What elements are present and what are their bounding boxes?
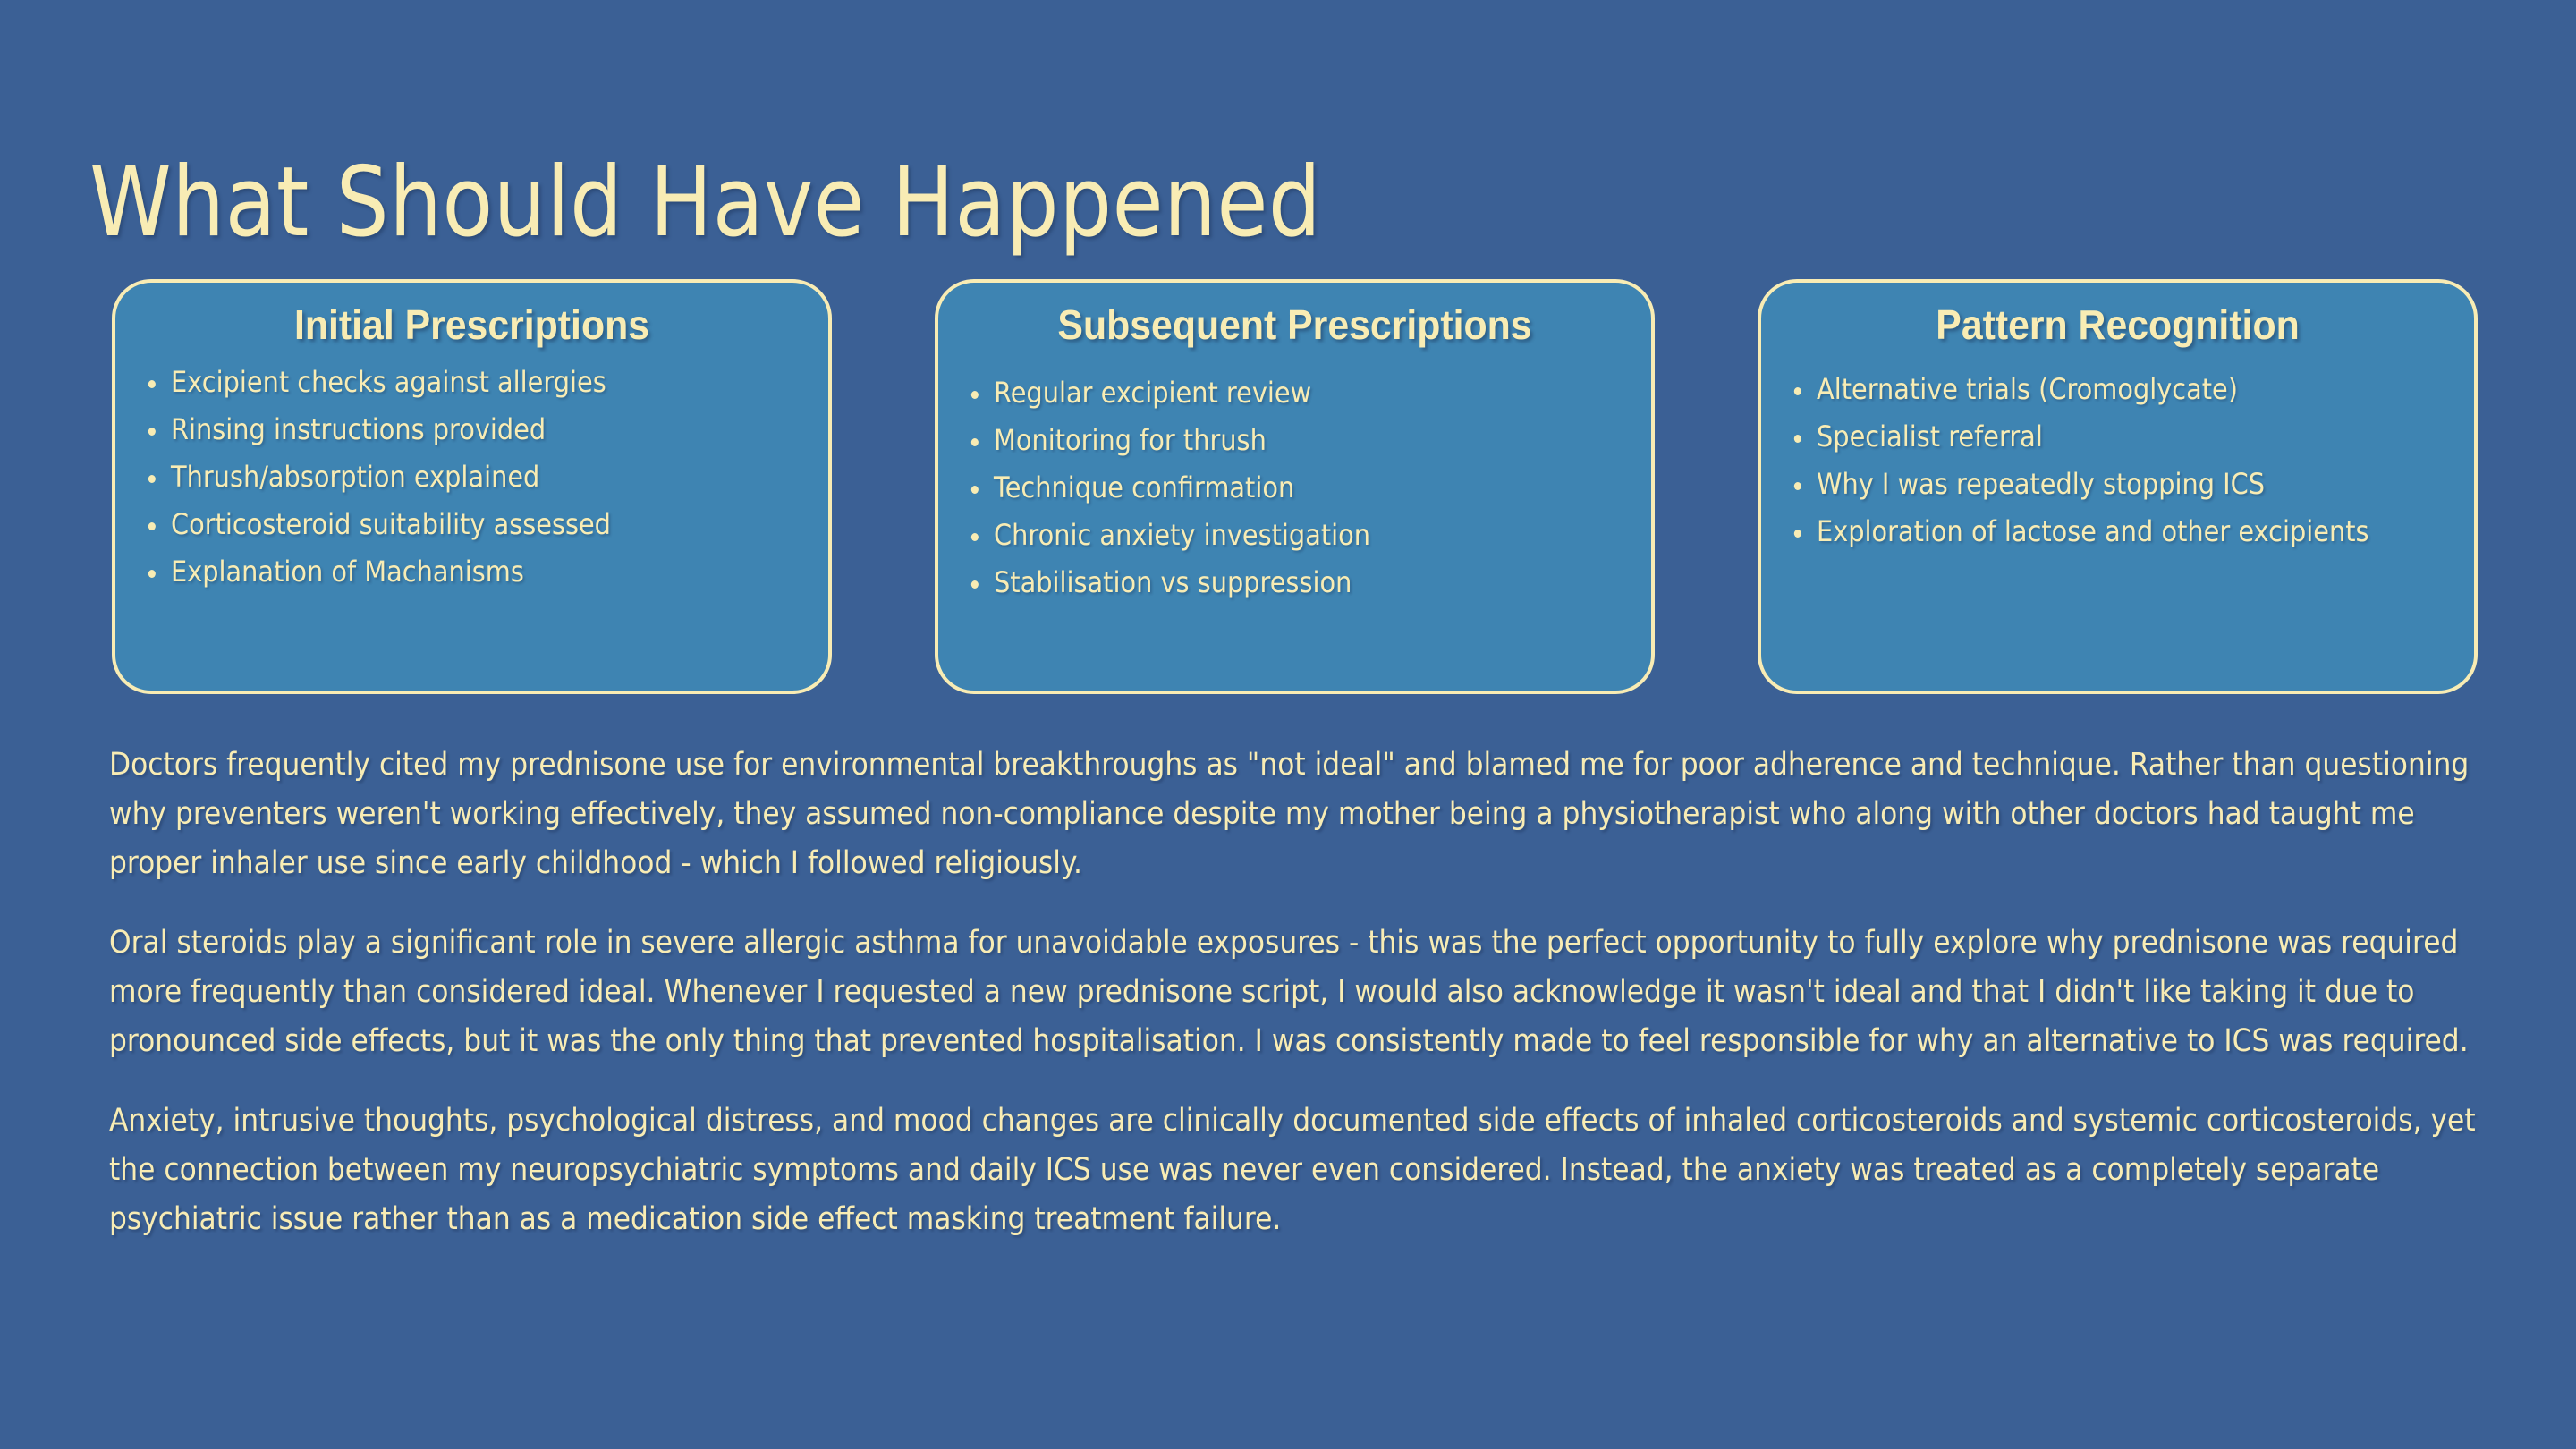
list-item: Specialist referral (1784, 419, 2385, 454)
paragraph: Anxiety, intrusive thoughts, psychologic… (109, 1097, 2487, 1244)
card-bullet-list: Alternative trials (Cromoglycate) Specia… (1784, 372, 2451, 549)
slide-root: What Should Have Happened Initial Prescr… (0, 0, 2576, 1449)
body-copy: Doctors frequently cited my prednisone u… (109, 741, 2488, 1244)
list-item-label: Why I was repeatedly stopping ICS (1817, 467, 2265, 501)
list-item: Corticosteroid suitability assessed (139, 507, 739, 542)
list-item-label: Chronic anxiety investigation (994, 518, 1370, 552)
list-item: Explanation of Machanisms (139, 555, 739, 589)
list-item-label: Rinsing instructions provided (171, 412, 546, 446)
bullet-point-icon (971, 580, 979, 589)
list-item: Excipient checks against allergies (139, 365, 739, 400)
card-pattern-recognition: Pattern Recognition Alternative trials (… (1758, 279, 2478, 694)
page-title: What Should Have Happened (89, 152, 1321, 253)
bullet-point-icon (1794, 482, 1801, 490)
paragraph: Oral steroids play a significant role in… (109, 919, 2487, 1066)
list-item: Monitoring for thrush (962, 423, 1562, 458)
list-item-label: Monitoring for thrush (994, 423, 1267, 457)
list-item: Why I was repeatedly stopping ICS (1784, 467, 2385, 502)
list-item: Chronic anxiety investigation (962, 518, 1562, 553)
card-title: Initial Prescriptions (162, 302, 782, 349)
list-item-label: Corticosteroid suitability assessed (171, 507, 611, 541)
card-bullet-list: Excipient checks against allergies Rinsi… (139, 365, 805, 589)
bullet-point-icon (1794, 435, 1801, 443)
list-item: Regular excipient review (962, 376, 1562, 411)
bullet-point-icon (148, 380, 156, 388)
list-item: Technique confirmation (962, 470, 1562, 505)
list-item-label: Technique confirmation (994, 470, 1294, 504)
bullet-point-icon (148, 475, 156, 483)
list-item: Exploration of lactose and other excipie… (1784, 514, 2385, 549)
bullet-point-icon (148, 570, 156, 578)
card-subsequent-prescriptions: Subsequent Prescriptions Regular excipie… (935, 279, 1655, 694)
list-item: Rinsing instructions provided (139, 412, 739, 447)
card-title: Subsequent Prescriptions (985, 302, 1605, 349)
list-item: Alternative trials (Cromoglycate) (1784, 372, 2385, 407)
list-item: Thrush/absorption explained (139, 460, 739, 495)
bullet-point-icon (148, 522, 156, 530)
bullet-point-icon (971, 438, 979, 446)
bullet-point-icon (971, 533, 979, 541)
list-item-label: Exploration of lactose and other excipie… (1817, 514, 2368, 548)
card-initial-prescriptions: Initial Prescriptions Excipient checks a… (112, 279, 832, 694)
list-item: Stabilisation vs suppression (962, 565, 1562, 600)
list-item-label: Explanation of Machanisms (171, 555, 524, 589)
list-item-label: Excipient checks against allergies (171, 365, 606, 399)
cards-row: Initial Prescriptions Excipient checks a… (112, 279, 2478, 694)
list-item-label: Stabilisation vs suppression (994, 565, 1352, 599)
bullet-point-icon (971, 391, 979, 399)
bullet-point-icon (971, 486, 979, 494)
list-item-label: Alternative trials (Cromoglycate) (1817, 372, 2238, 406)
list-item-label: Thrush/absorption explained (171, 460, 539, 494)
bullet-point-icon (1794, 530, 1801, 538)
paragraph: Doctors frequently cited my prednisone u… (109, 741, 2487, 888)
card-bullet-list: Regular excipient review Monitoring for … (962, 376, 1628, 600)
bullet-point-icon (148, 428, 156, 436)
card-title: Pattern Recognition (1808, 302, 2428, 349)
list-item-label: Specialist referral (1817, 419, 2043, 453)
bullet-point-icon (1794, 387, 1801, 395)
list-item-label: Regular excipient review (994, 376, 1311, 410)
